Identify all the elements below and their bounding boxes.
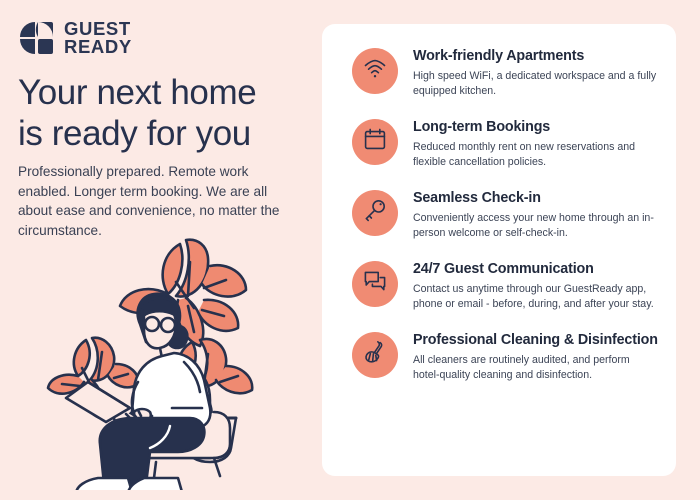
hero-illustration (34, 222, 314, 490)
page-title: Your next home is ready for you (18, 73, 313, 154)
key-icon (363, 198, 387, 227)
feature-icon-badge (352, 48, 398, 94)
feature-list: Work-friendly Apartments High speed WiFi… (352, 46, 658, 383)
chat-bubbles-icon (363, 269, 387, 298)
feature-icon-badge (352, 332, 398, 378)
feature-title: 24/7 Guest Communication (413, 261, 658, 279)
feature-text: 24/7 Guest Communication Contact us anyt… (413, 259, 658, 312)
feature-icon-badge (352, 190, 398, 236)
features-card: Work-friendly Apartments High speed WiFi… (322, 24, 676, 476)
list-item[interactable]: Seamless Check-in Conveniently access yo… (352, 188, 658, 241)
feature-title: Work-friendly Apartments (413, 48, 658, 66)
brand-name-line-2: READY (64, 38, 132, 56)
promo-graphic-root: GUEST READY Your next home is ready for … (0, 0, 700, 500)
brand-wordmark: GUEST READY (64, 20, 132, 56)
feature-title: Professional Cleaning & Disinfection (413, 332, 658, 350)
feature-text: Long-term Bookings Reduced monthly rent … (413, 117, 658, 170)
list-item[interactable]: Professional Cleaning & Disinfection All… (352, 330, 658, 383)
feature-icon-badge (352, 261, 398, 307)
hero-column: GUEST READY Your next home is ready for … (0, 0, 322, 500)
broom-icon (363, 340, 387, 369)
brand-logo[interactable]: GUEST READY (18, 20, 132, 56)
feature-description: High speed WiFi, a dedicated workspace a… (413, 69, 658, 99)
feature-title: Seamless Check-in (413, 190, 658, 208)
guestready-quadrant-logo-icon (18, 20, 54, 56)
feature-title: Long-term Bookings (413, 119, 658, 137)
feature-description: All cleaners are routinely audited, and … (413, 353, 658, 383)
feature-description: Contact us anytime through our GuestRead… (413, 282, 658, 312)
calendar-icon (363, 127, 387, 156)
feature-text: Professional Cleaning & Disinfection All… (413, 330, 658, 383)
feature-text: Seamless Check-in Conveniently access yo… (413, 188, 658, 241)
list-item[interactable]: Long-term Bookings Reduced monthly rent … (352, 117, 658, 170)
feature-text: Work-friendly Apartments High speed WiFi… (413, 46, 658, 99)
feature-description: Conveniently access your new home throug… (413, 211, 658, 241)
feature-description: Reduced monthly rent on new reservations… (413, 140, 658, 170)
feature-icon-badge (352, 119, 398, 165)
list-item[interactable]: 24/7 Guest Communication Contact us anyt… (352, 259, 658, 312)
list-item[interactable]: Work-friendly Apartments High speed WiFi… (352, 46, 658, 99)
wifi-icon (363, 57, 387, 86)
